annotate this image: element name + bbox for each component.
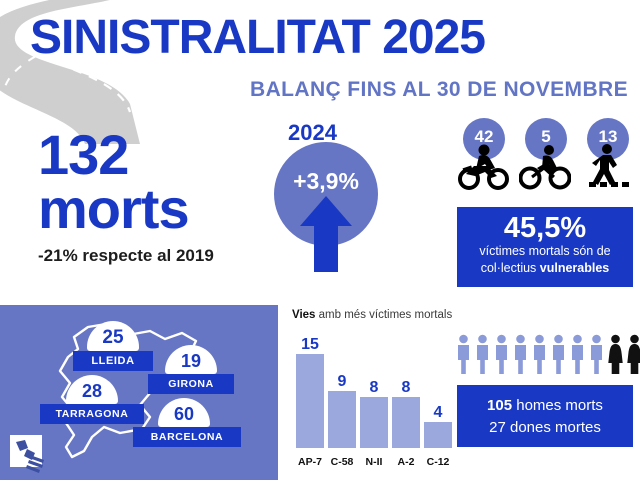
bar-category-2: N-II [357, 456, 391, 468]
barcelona-value: 60 [158, 398, 210, 425]
vulnerable-percent: 45,5% [457, 213, 633, 243]
girona-value: 19 [165, 345, 217, 372]
bar-column-1: 9 [328, 391, 356, 448]
men-deaths-line: 105 homes morts [457, 385, 633, 417]
bicycle-icon [519, 144, 571, 190]
lleida-dome: 25 [87, 321, 139, 351]
female-figure-icon [626, 334, 640, 374]
deaths-count: 132 [38, 128, 128, 181]
male-figure-icon [455, 334, 472, 374]
bar-column-3: 8 [392, 397, 420, 448]
gender-figures-row [455, 334, 635, 376]
lleida-label: LLEIDA [73, 351, 153, 371]
map-marker-girona[interactable]: 19 GIRONA [148, 345, 234, 394]
girona-dome: 19 [165, 345, 217, 374]
male-figure-icon [512, 334, 529, 374]
male-figure-icon [550, 334, 567, 374]
bar-value-4: 4 [424, 404, 452, 422]
map-marker-barcelona[interactable]: 60 BARCELONA [133, 398, 241, 447]
chart-title: Vies amb més víctimes mortals [292, 309, 452, 321]
vulnerable-item-motorcycle: 42 [455, 118, 511, 202]
men-count: 105 [487, 397, 512, 414]
bar-value-2: 8 [360, 379, 388, 397]
deaths-comparison: -21% respecte al 2019 [38, 246, 214, 266]
bar-0 [296, 354, 324, 448]
page-title: SINISTRALITAT 2025 [30, 14, 485, 62]
trend-indicator: +3,9% [274, 142, 384, 272]
vulnerable-line2-prefix: col·lectius [481, 261, 540, 275]
lleida-value: 25 [87, 321, 139, 349]
bar-category-3: A-2 [389, 456, 423, 468]
map-marker-lleida[interactable]: 25 LLEIDA [73, 321, 153, 371]
vulnerable-item-pedestrian: 13 [579, 118, 635, 202]
bar-value-3: 8 [392, 379, 420, 397]
tarragona-value: 28 [66, 375, 118, 402]
chart-title-bold: Vies [292, 309, 315, 321]
bar-category-4: C-12 [421, 456, 455, 468]
vulnerable-percent-line1: víctimes mortals són de [457, 243, 633, 259]
women-deaths-line: 27 dones mortes [457, 417, 633, 439]
tarragona-dome: 28 [66, 375, 118, 404]
chart-title-rest: amb més víctimes mortals [315, 309, 452, 321]
bar-category-0: AP-7 [293, 456, 327, 468]
deaths-label: morts [38, 182, 189, 235]
bar-3 [392, 397, 420, 448]
male-figure-icon [588, 334, 605, 374]
bar-2 [360, 397, 388, 448]
trend-percent: +3,9% [274, 168, 378, 195]
vulnerable-percent-box: 45,5% víctimes mortals són de col·lectiu… [457, 207, 633, 287]
male-figure-icon [474, 334, 491, 374]
bar-4 [424, 422, 452, 448]
vulnerable-users-row: 42 5 13 [455, 118, 635, 202]
page-subtitle: BALANÇ FINS AL 30 DE NOVEMBRE [250, 78, 628, 102]
vulnerable-line2-bold: vulnerables [540, 261, 609, 275]
vulnerable-item-bicycle: 5 [517, 118, 573, 202]
bar-column-4: 4 [424, 422, 452, 448]
barcelona-label: BARCELONA [133, 427, 241, 447]
bar-column-0: 15 [296, 354, 324, 448]
bar-column-2: 8 [360, 397, 388, 448]
arrow-up-icon [298, 194, 354, 272]
bar-1 [328, 391, 356, 448]
girona-label: GIRONA [148, 374, 234, 394]
bar-value-1: 9 [328, 373, 356, 391]
infographic-root: SINISTRALITAT 2025 BALANÇ FINS AL 30 DE … [0, 0, 640, 480]
female-figure-icon [607, 334, 624, 374]
men-label: homes morts [512, 397, 603, 414]
map-marker-tarragona[interactable]: 28 TARRAGONA [40, 375, 144, 424]
tarragona-label: TARRAGONA [40, 404, 144, 424]
motorcycle-icon [457, 144, 509, 190]
roads-bar-chart: 15 AP-7 9 C-58 8 N-II 8 A-2 4 C-12 [292, 330, 457, 470]
barcelona-dome: 60 [158, 398, 210, 427]
male-figure-icon [531, 334, 548, 374]
bar-value-0: 15 [296, 336, 324, 354]
pedestrian-crossing-icon [581, 144, 633, 190]
gender-stats-box: 105 homes morts 27 dones mortes [457, 385, 633, 447]
bar-category-1: C-58 [325, 456, 359, 468]
male-figure-icon [493, 334, 510, 374]
vulnerable-percent-line2: col·lectius vulnerables [457, 260, 633, 276]
male-figure-icon [569, 334, 586, 374]
province-map-panel: 25 LLEIDA 19 GIRONA 28 TARRAGONA 60 BARC… [0, 305, 278, 480]
generalitat-catalunya-logo [8, 433, 48, 473]
